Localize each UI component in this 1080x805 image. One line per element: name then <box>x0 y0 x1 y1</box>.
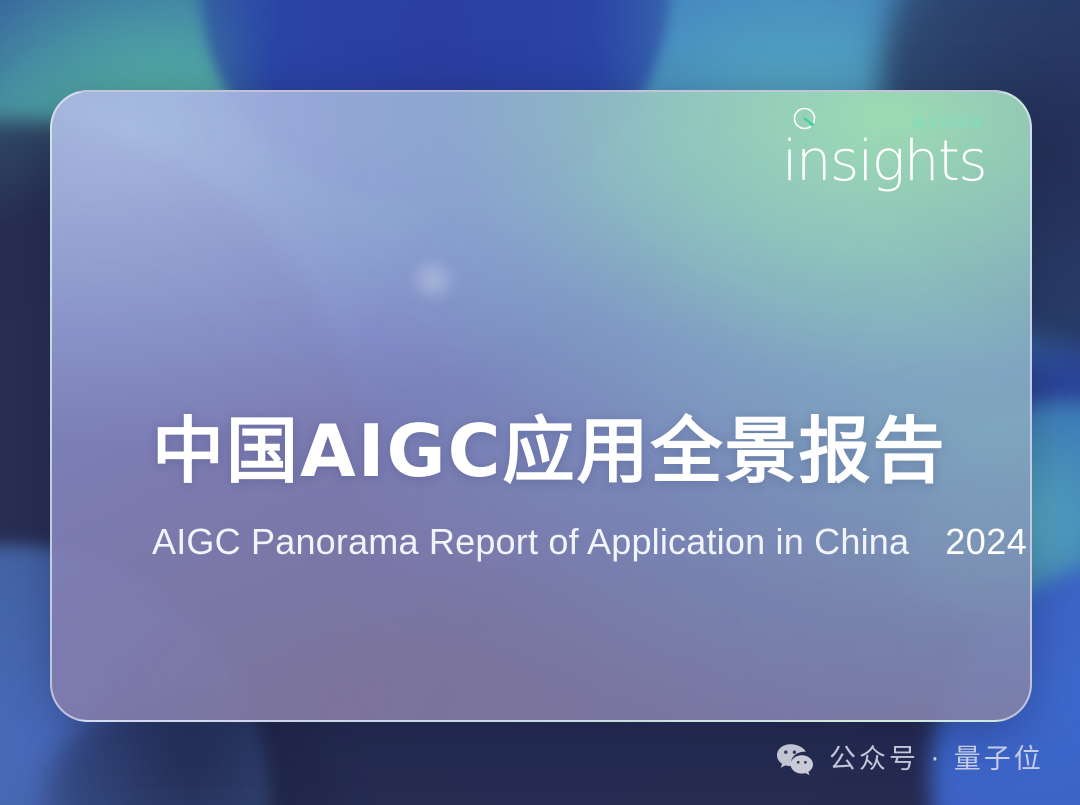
magnifier-circle-icon <box>792 106 817 131</box>
insights-logo: 量子位智库 insights <box>782 116 986 194</box>
report-year: 2024 <box>945 524 1027 560</box>
wechat-icon <box>775 742 815 776</box>
wechat-watermark: 公众号 · 量子位 <box>775 742 1044 776</box>
cover-slide: 量子位智库 insights 中国AIGC应用全景报告 AIGC Panoram… <box>0 0 1080 805</box>
page-title-english: AIGC Panorama Report of Application in C… <box>152 524 909 560</box>
page-subtitle-row: AIGC Panorama Report of Application in C… <box>152 524 1027 560</box>
page-title-chinese: 中国AIGC应用全景报告 <box>152 415 946 487</box>
card-light-speck <box>407 260 459 300</box>
logo-wordmark: insights <box>782 130 986 194</box>
logo-wordmark-row: insights <box>782 130 986 194</box>
wechat-account-label: 公众号 · 量子位 <box>829 746 1044 773</box>
glass-card: 量子位智库 insights 中国AIGC应用全景报告 AIGC Panoram… <box>50 90 1032 722</box>
